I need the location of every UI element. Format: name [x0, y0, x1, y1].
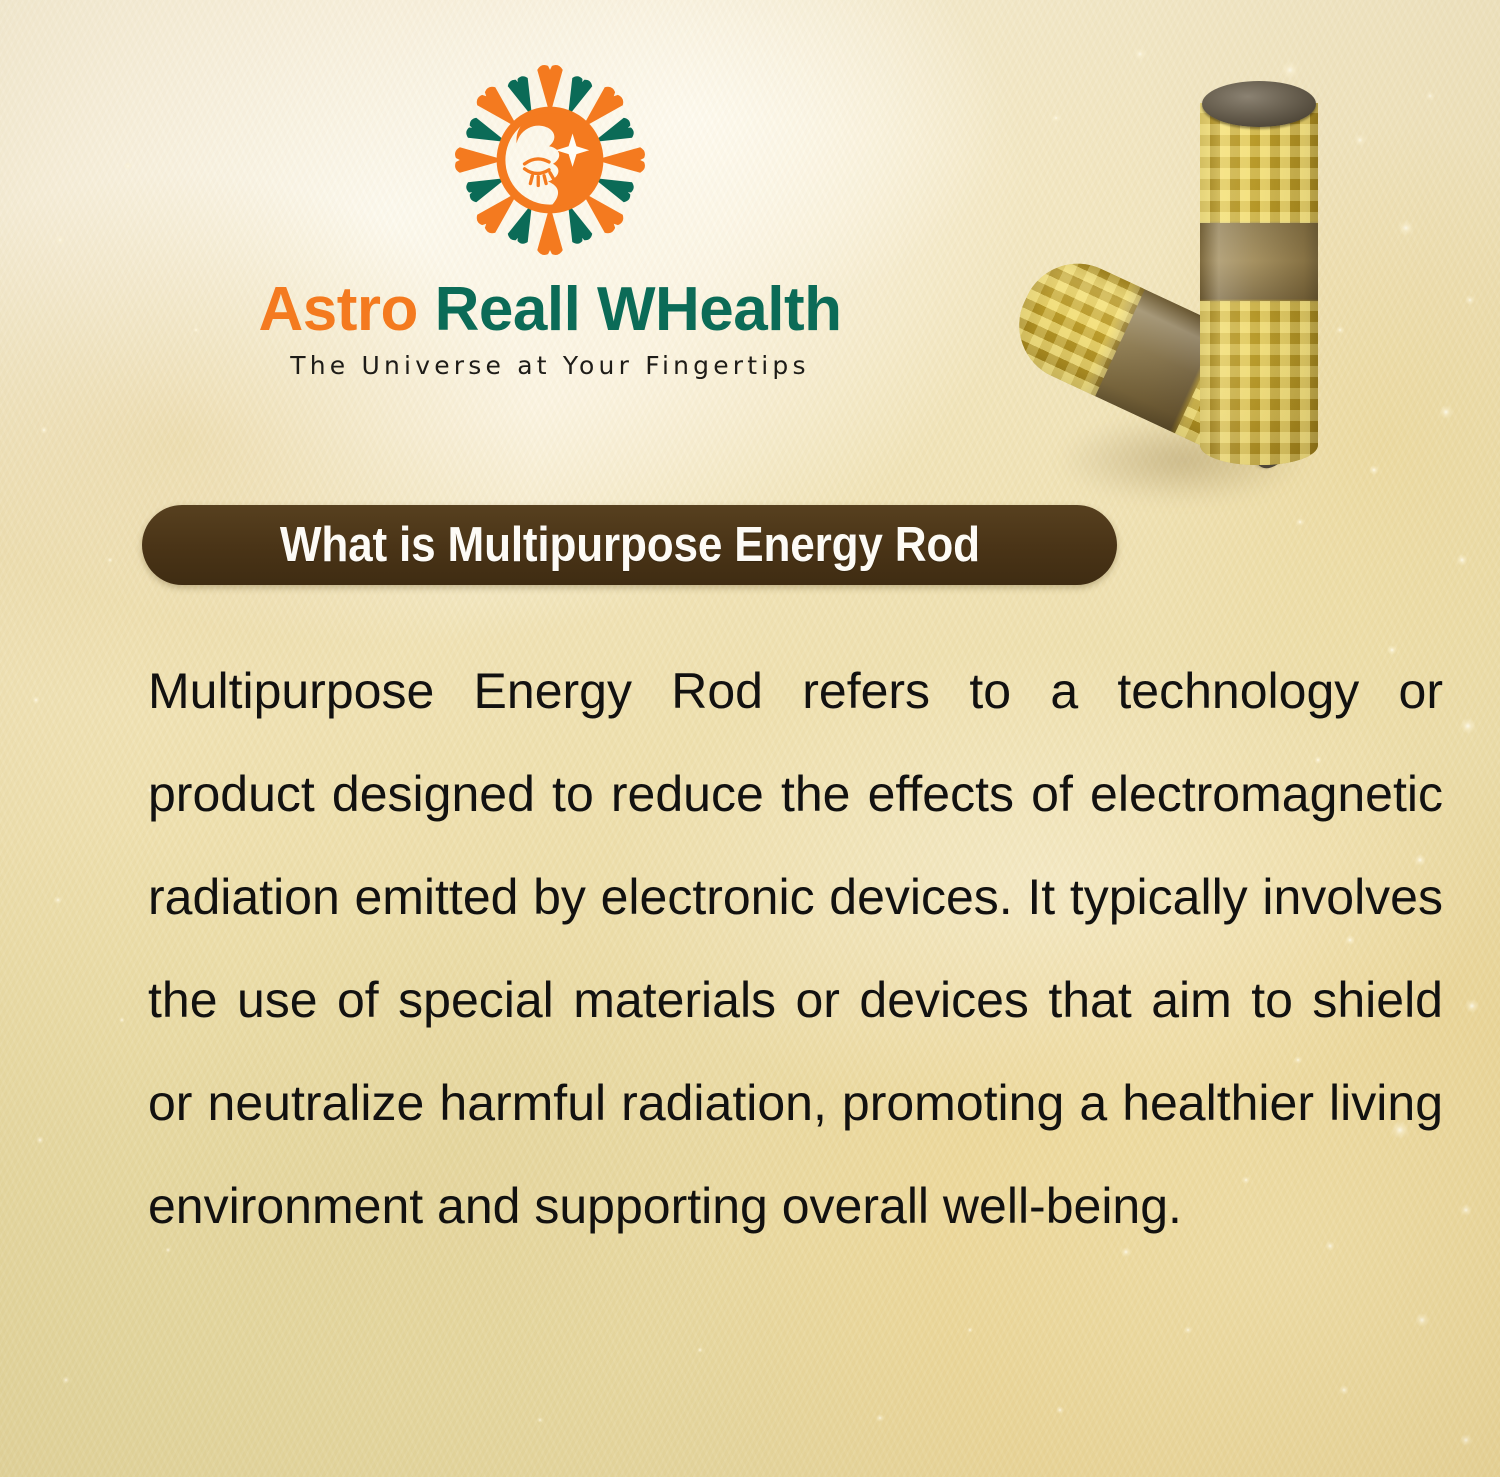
body-paragraph: Multipurpose Energy Rod refers to a tech…	[148, 640, 1443, 1258]
section-title-banner: What is Multipurpose Energy Rod	[142, 505, 1117, 585]
standing-rod-top-cap	[1202, 81, 1316, 127]
brand-wordmark: Astro Reall WHealth	[155, 278, 945, 341]
sun-moon-face-emblem-icon	[450, 62, 650, 258]
product-image-energy-rods	[1000, 70, 1400, 510]
section-title-text: What is Multipurpose Energy Rod	[279, 517, 979, 573]
brand-tagline: The Universe at Your Fingertips	[155, 351, 945, 380]
brand-logo-block: Astro Reall WHealth The Universe at Your…	[155, 62, 945, 380]
lying-rod-holo-band-left	[1001, 245, 1145, 396]
sun-rays	[455, 65, 645, 255]
poster-canvas: Astro Reall WHealth The Universe at Your…	[0, 0, 1500, 1477]
standing-rod-body	[1200, 103, 1318, 465]
standing-rod-holo-band-bottom	[1200, 301, 1318, 465]
body-paragraph-text: Multipurpose Energy Rod refers to a tech…	[148, 663, 1443, 1234]
standing-energy-rod	[1200, 75, 1318, 465]
brand-word-astro: Astro	[258, 275, 417, 344]
brand-word-reall-whealth: Reall WHealth	[418, 275, 842, 344]
